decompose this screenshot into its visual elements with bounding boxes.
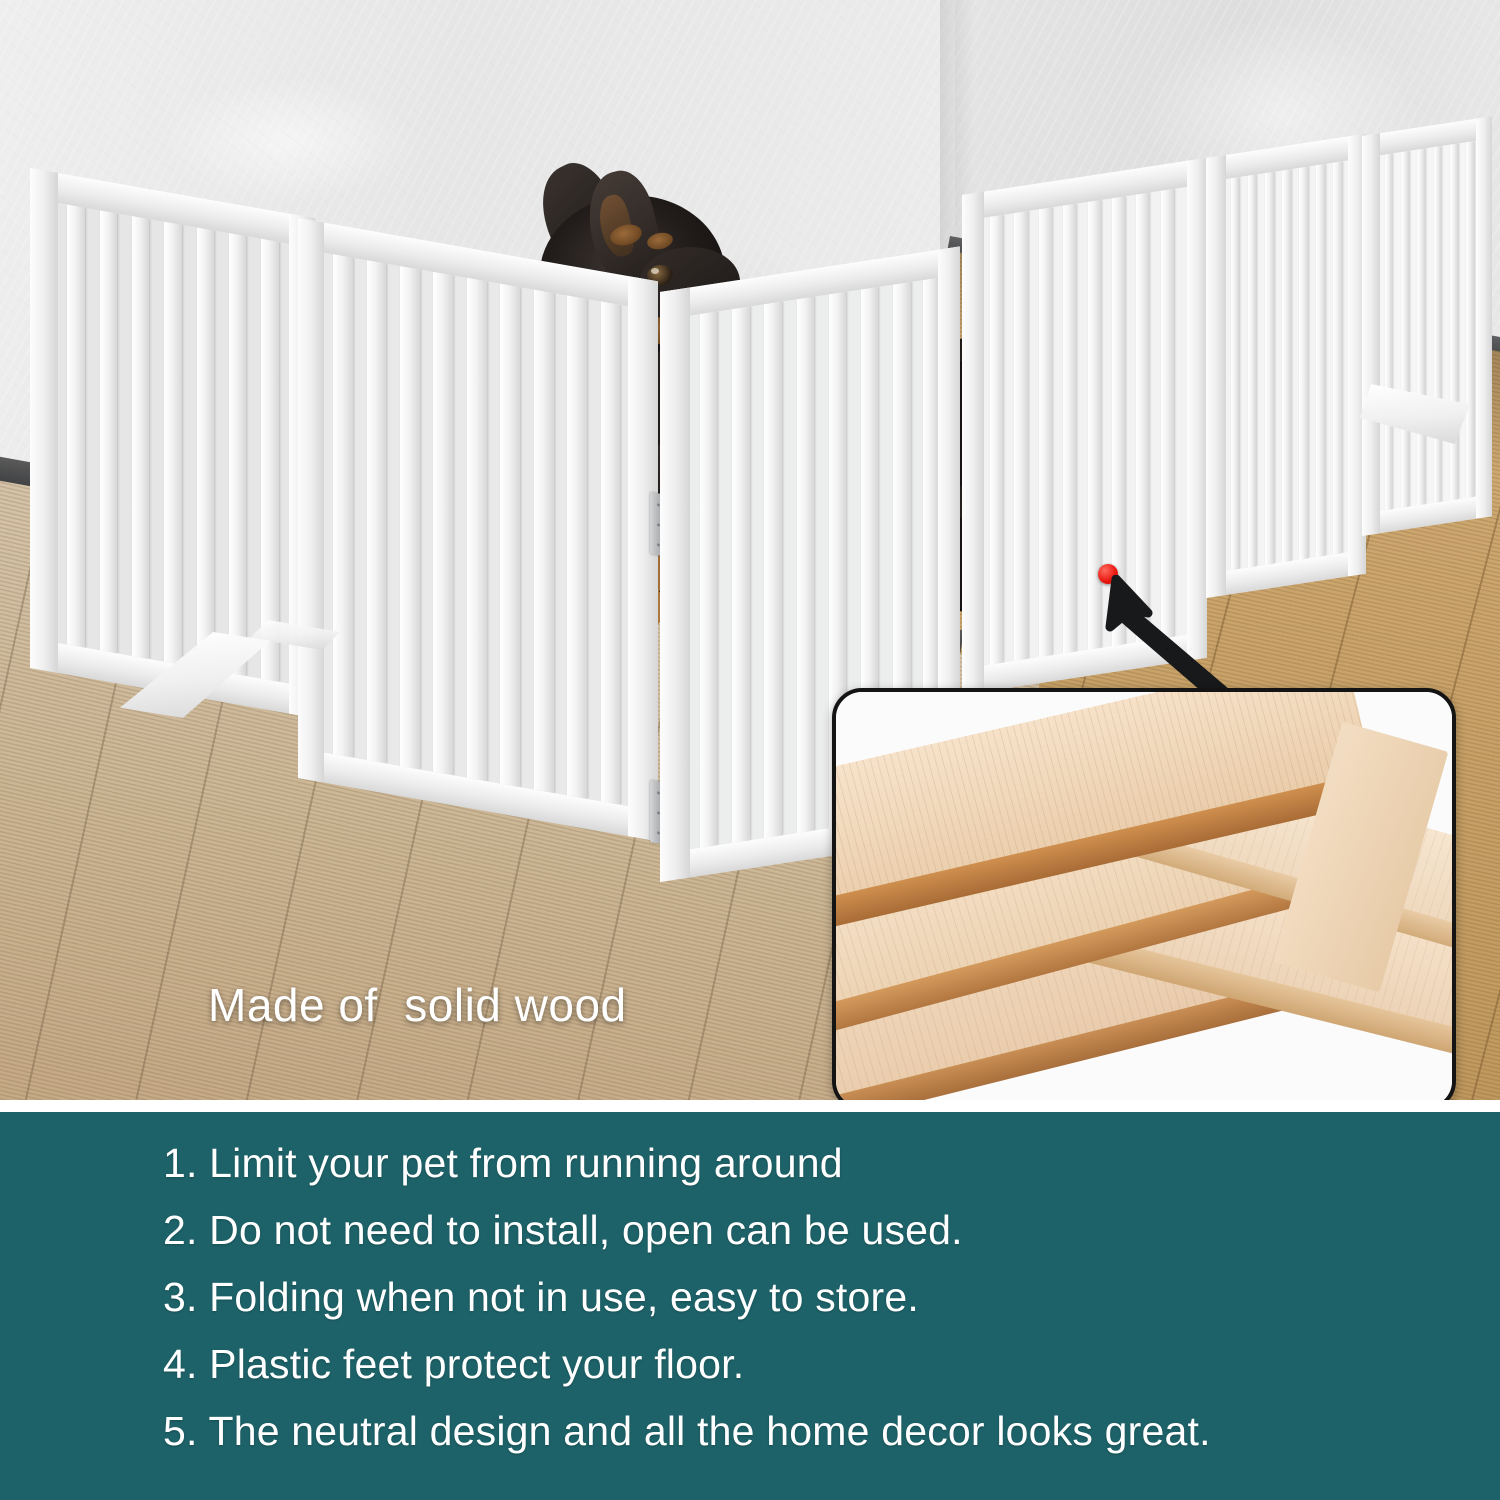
product-photo: Made of solid wood (0, 0, 1500, 1108)
inset-inner (836, 692, 1452, 1107)
gate-panel-5 (1206, 134, 1366, 598)
gate-left-stile (1206, 155, 1226, 598)
list-item: 2. Do not need to install, open can be u… (163, 1197, 1463, 1264)
gate-left-stile (30, 168, 58, 673)
gate-left-stile (1362, 133, 1380, 536)
feature-list-panel: 1. Limit your pet from running around 2.… (0, 1112, 1500, 1500)
gate-panel-2-slats (324, 253, 628, 807)
callout-red-dot (1098, 564, 1118, 584)
list-item: 5. The neutral design and all the home d… (163, 1398, 1463, 1465)
gate-right-stile (628, 276, 658, 841)
gate-panel-2 (298, 218, 658, 841)
gate-left-stile (962, 192, 984, 695)
gate-left-stile (298, 218, 324, 783)
gate-right-stile (1187, 158, 1207, 661)
caption-made-of-solid-wood: Made of solid wood (208, 978, 627, 1032)
list-item: 4. Plastic feet protect your floor. (163, 1331, 1463, 1398)
product-image: Made of solid wood 1. Limit your pet fro… (0, 0, 1500, 1500)
gate-panel-4-slats (984, 187, 1187, 666)
list-item: 3. Folding when not in use, easy to stor… (163, 1264, 1463, 1331)
inset-solid-wood-photo (832, 688, 1456, 1108)
gate-panel-6 (1362, 116, 1492, 536)
gate-panel-6-slats (1380, 141, 1476, 512)
gate-panel-5-slats (1226, 160, 1348, 571)
list-item: 1. Limit your pet from running around (163, 1130, 1463, 1197)
feature-list: 1. Limit your pet from running around 2.… (163, 1130, 1463, 1465)
gate-panel-1-slats (58, 203, 289, 684)
dog-eye-highlight (651, 268, 659, 274)
gate-left-stile (660, 287, 690, 882)
gate-right-stile (1476, 116, 1492, 518)
gate-panel-4 (962, 158, 1207, 695)
photo-panel-divider (0, 1100, 1500, 1112)
